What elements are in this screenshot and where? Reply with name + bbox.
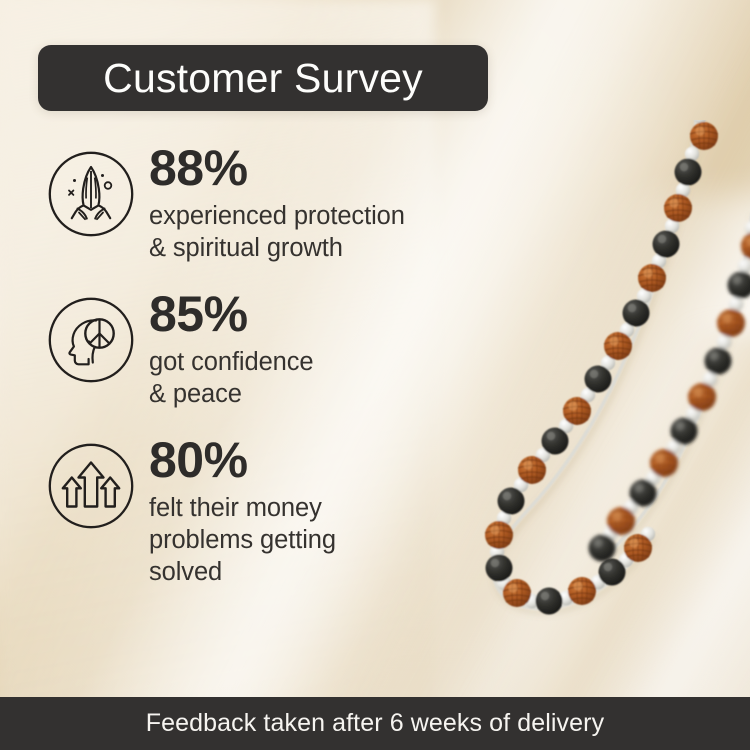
survey-stats-list: 88% experienced protection & spiritual g…: [47, 143, 507, 588]
stat-percent: 88%: [149, 143, 405, 194]
stat-description: got confidence & peace: [149, 347, 313, 410]
up-arrows-icon: [47, 442, 135, 530]
stat-text-protection: 88% experienced protection & spiritual g…: [149, 143, 405, 264]
stat-percent: 85%: [149, 289, 313, 340]
stat-item-money: 80% felt their money problems getting so…: [47, 435, 507, 588]
footer-note: Feedback taken after 6 weeks of delivery: [146, 711, 604, 736]
footer-note-bar: Feedback taken after 6 weeks of delivery: [0, 697, 750, 750]
page-title-badge: Customer Survey: [38, 45, 488, 111]
stat-item-confidence: 85% got confidence & peace: [47, 289, 507, 410]
praying-hands-icon: [47, 150, 135, 238]
stat-percent: 80%: [149, 435, 336, 486]
stat-description: felt their money problems getting solved: [149, 493, 336, 588]
stat-text-confidence: 85% got confidence & peace: [149, 289, 313, 410]
stat-item-protection: 88% experienced protection & spiritual g…: [47, 143, 507, 264]
head-peace-icon: [47, 296, 135, 384]
stat-text-money: 80% felt their money problems getting so…: [149, 435, 336, 588]
stat-description: experienced protection & spiritual growt…: [149, 201, 405, 264]
page-title: Customer Survey: [103, 58, 423, 99]
customer-survey-poster: Customer Survey: [0, 0, 750, 750]
